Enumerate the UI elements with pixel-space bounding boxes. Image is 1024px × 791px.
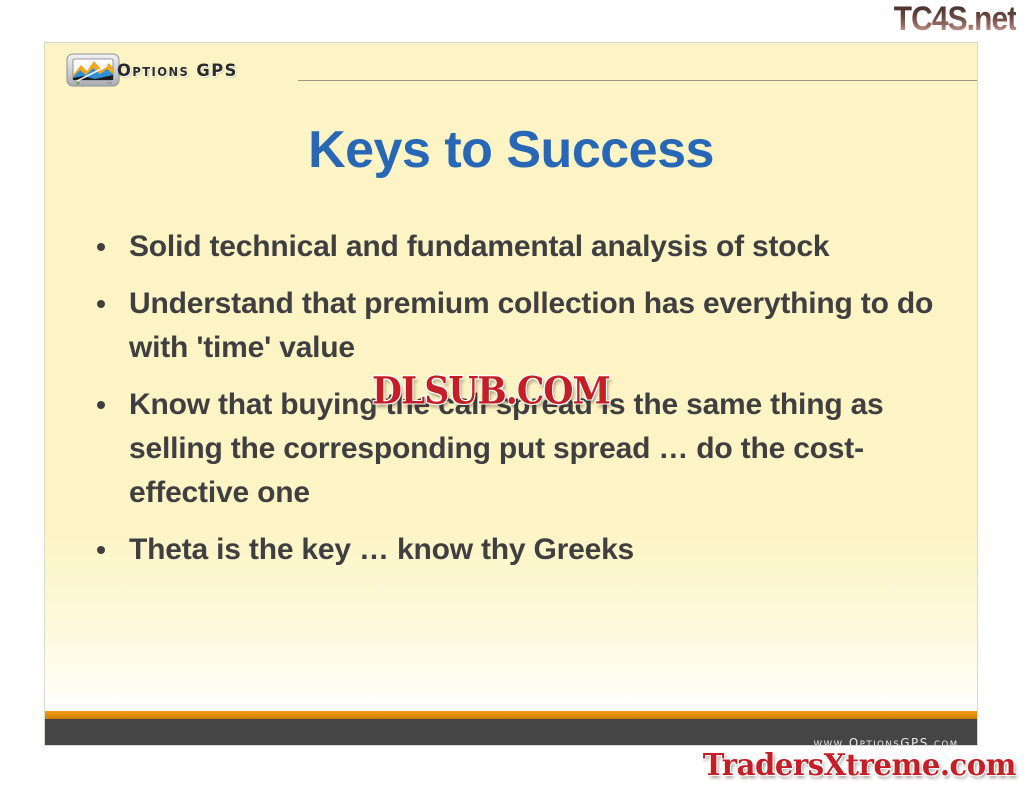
bullet-dot-icon [97, 546, 105, 554]
list-item-text: Understand that premium collection has e… [129, 287, 933, 364]
slide-header: Options GPS [45, 43, 977, 95]
list-item-text: Solid technical and fundamental analysis… [129, 230, 829, 263]
header-divider [298, 80, 977, 81]
accent-bar [45, 711, 977, 719]
tc4s-watermark: TC4S.net [893, 2, 1016, 36]
list-item-text: Theta is the key … know thy Greeks [129, 533, 634, 566]
brand-name: Options GPS [117, 61, 238, 81]
tradersxtreme-watermark: TradersXtreme.com [703, 748, 1016, 783]
list-item: Solid technical and fundamental analysis… [83, 225, 961, 269]
bullet-dot-icon [97, 300, 105, 308]
list-item: Theta is the key … know thy Greeks [83, 528, 961, 572]
list-item: Understand that premium collection has e… [83, 282, 961, 370]
slide-footer: www.OptionsGPS.com [45, 719, 977, 745]
gps-device-chart-icon [63, 51, 123, 91]
bullet-dot-icon [97, 401, 105, 409]
footer-website-url: www.OptionsGPS.com [814, 735, 959, 746]
bullet-dot-icon [97, 243, 105, 251]
slide-title: Keys to Success [45, 120, 977, 180]
dlsub-watermark: DLSUB.COM [372, 369, 610, 413]
